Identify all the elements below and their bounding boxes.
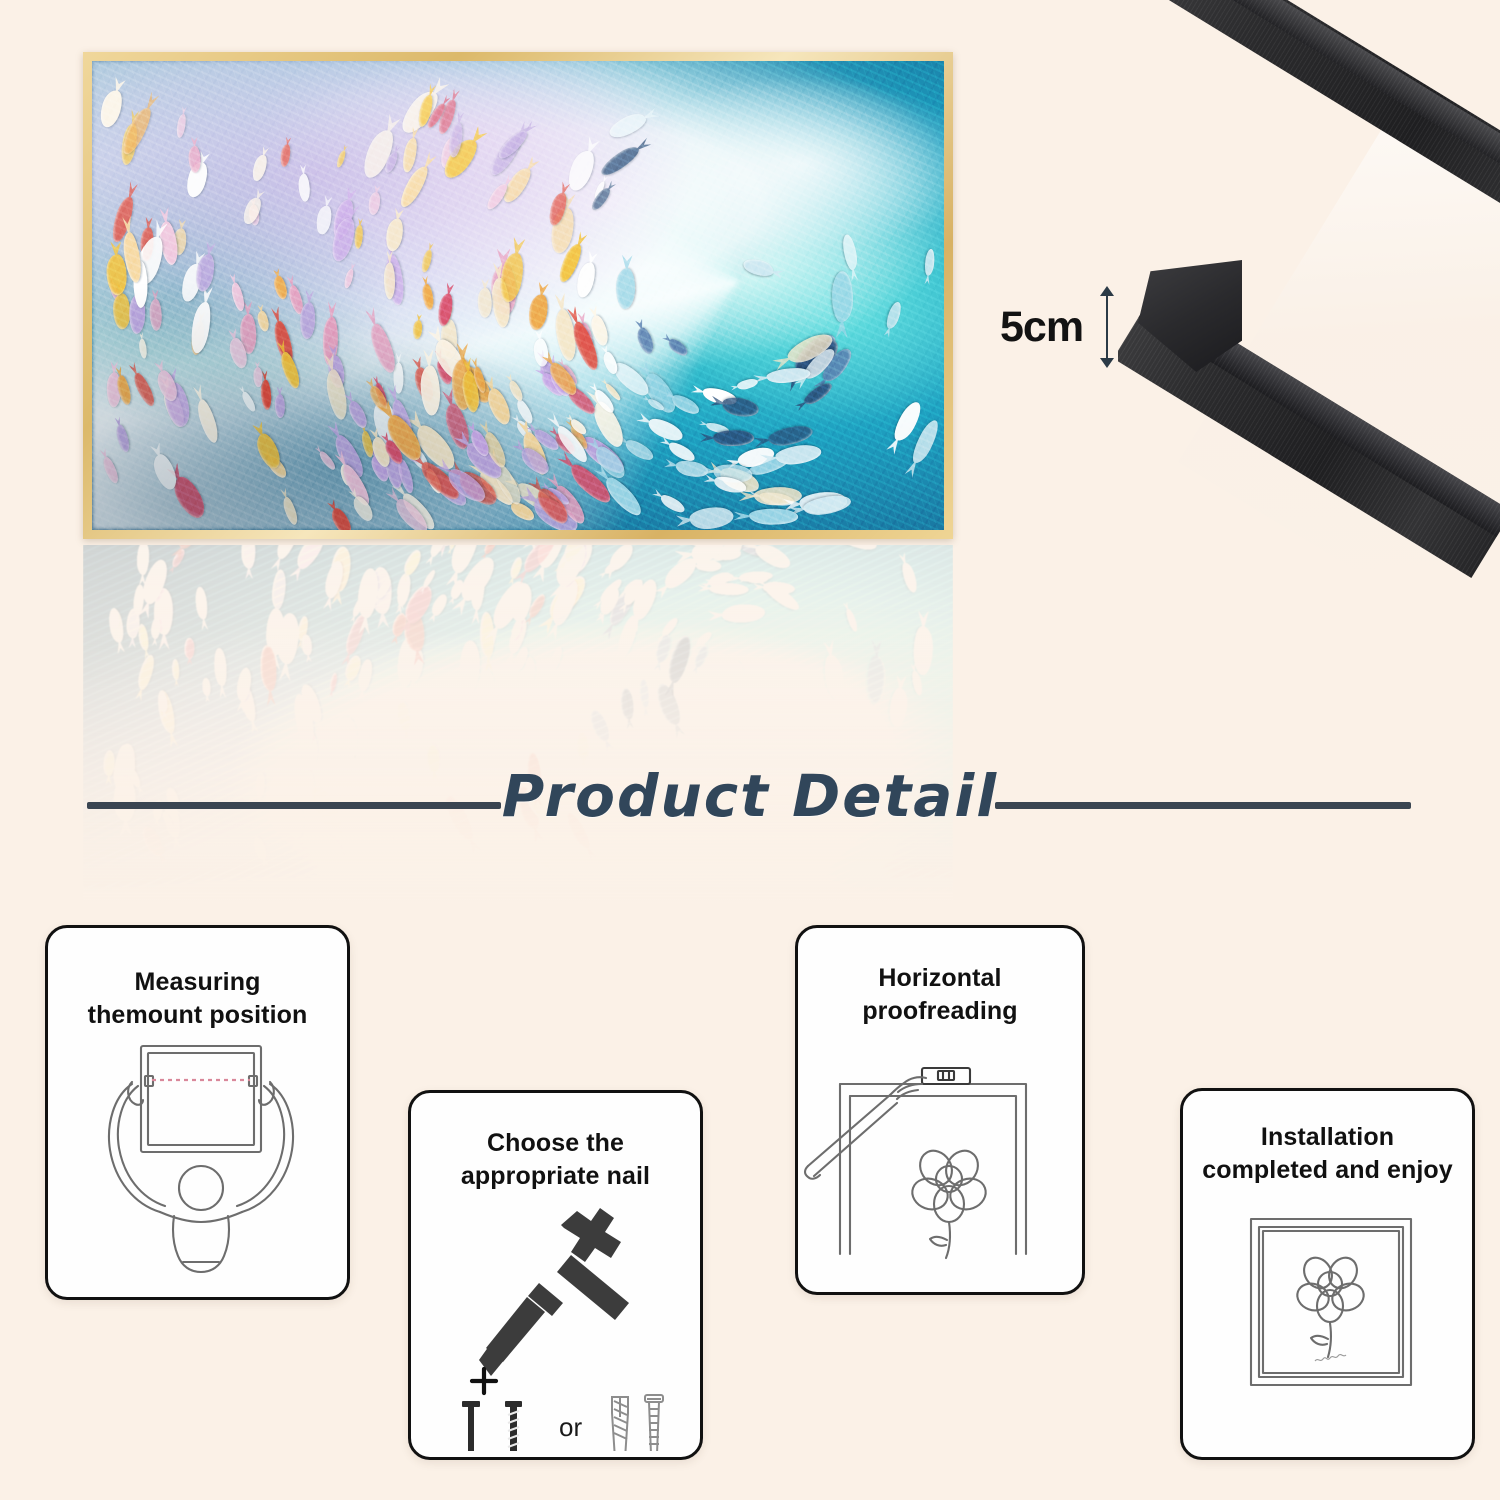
signature-mark xyxy=(1315,1355,1346,1361)
painting-canvas xyxy=(92,61,944,530)
product-detail-page: 5cm Product Detail Measuring themount po… xyxy=(0,0,1500,1500)
step-card-title: Measuring themount position xyxy=(48,966,347,1032)
hung-framed-flower-picture-icon xyxy=(1183,1207,1472,1457)
black-wood-frame-corner-photo[interactable] xyxy=(1118,0,1500,612)
divider-right xyxy=(995,802,1411,809)
step-card-measuring[interactable]: Measuring themount position xyxy=(45,925,350,1300)
step-card-title: Horizontal proofreading xyxy=(798,962,1082,1028)
gold-frame-border xyxy=(83,52,953,539)
step-card-horizontal-proofreading[interactable]: Horizontal proofreading xyxy=(795,925,1085,1295)
double-vertical-arrow-icon xyxy=(1099,286,1115,368)
step-card-choose-nail[interactable]: Choose the appropriate nail xyxy=(408,1090,703,1460)
or-label: or xyxy=(559,1412,582,1442)
section-header: Product Detail xyxy=(0,762,1500,854)
dimension-label: 5cm xyxy=(1000,306,1083,349)
painting-light-sheen xyxy=(92,61,944,530)
step-card-installation-completed[interactable]: Installation completed and enjoy xyxy=(1180,1088,1475,1460)
page-title: Product Detail xyxy=(0,762,1500,830)
frame-depth-dimension: 5cm xyxy=(1000,286,1115,368)
hand-spirit-level-on-frame-icon xyxy=(798,1048,1082,1288)
hammer-nails-screws-icon: or xyxy=(411,1201,700,1451)
framed-artwork[interactable] xyxy=(83,52,953,539)
step-card-title: Installation completed and enjoy xyxy=(1183,1121,1472,1187)
step-card-title: Choose the appropriate nail xyxy=(411,1127,700,1193)
person-holding-frame-measuring-icon xyxy=(48,1040,347,1280)
